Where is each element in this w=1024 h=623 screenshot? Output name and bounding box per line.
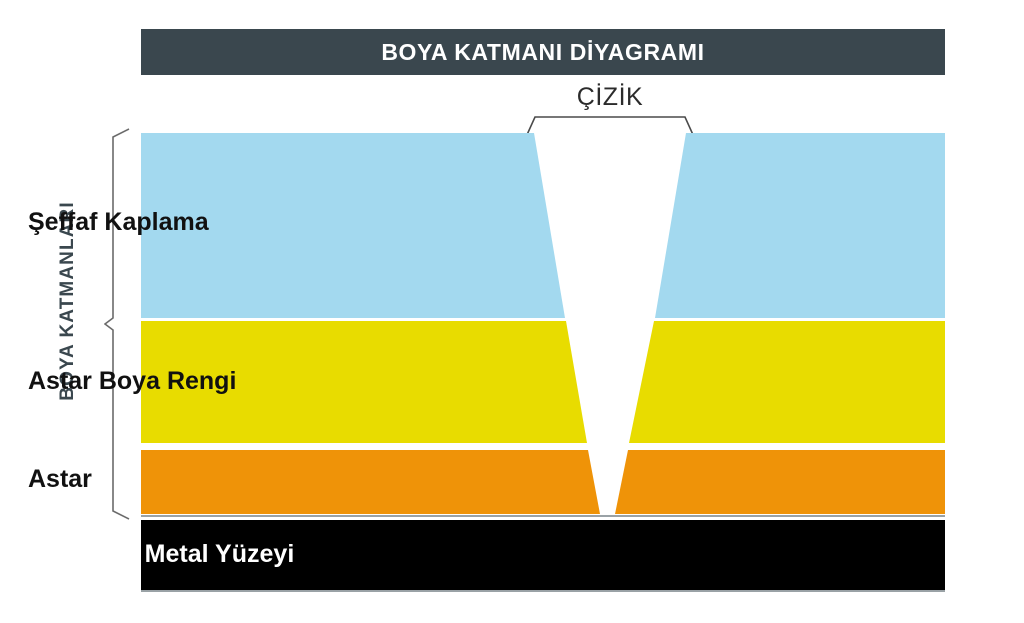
layer-primer	[141, 450, 945, 514]
diagram-title-bar: BOYA KATMANI DİYAGRAMI	[141, 29, 945, 75]
layers-bracket-icon	[104, 128, 130, 520]
paint-layer-diagram: BOYA KATMANI DİYAGRAMI ÇİZİK BOYA KATMAN…	[0, 0, 1024, 623]
layer-label-clearcoat: Şeffaf Kaplama	[28, 208, 209, 237]
layer-label-substrate: Otomotiv Metal Yüzeyi	[28, 540, 294, 569]
layer-basecoat	[141, 321, 945, 443]
page-title: BOYA KATMANI DİYAGRAMI	[381, 39, 704, 66]
substrate-top-rule	[141, 515, 945, 517]
layer-label-primer: Astar	[28, 465, 92, 494]
scratch-label: ÇİZİK	[510, 83, 710, 112]
substrate-bottom-rule	[141, 590, 945, 592]
layer-label-basecoat: Astar Boya Rengi	[28, 367, 236, 396]
layer-clearcoat	[141, 133, 945, 318]
